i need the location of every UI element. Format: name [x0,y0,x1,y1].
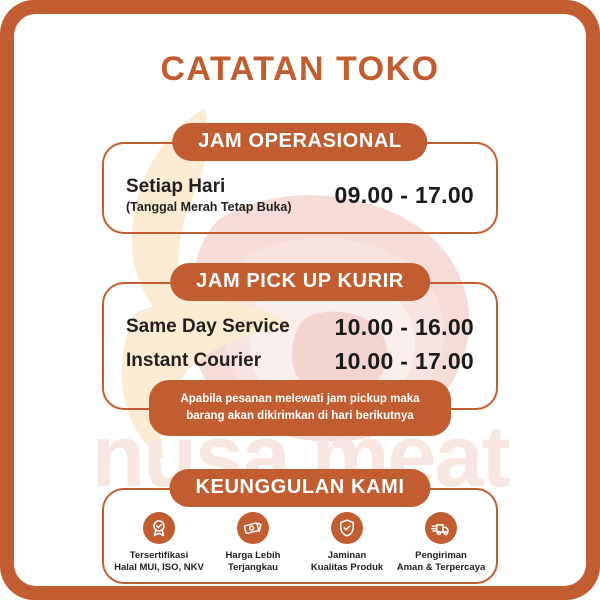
page-title: CATATAN TOKO [14,50,586,89]
card-jam-pick-up-kurir: Same Day Service 10.00 - 16.00 Instant C… [102,282,498,410]
poster-inner: nusa meat CATATAN TOKO JAM OPERASIONAL S… [14,14,586,586]
list-item: Tersertifikasi Halal MUI, ISO, NKV [112,512,206,575]
certificate-badge-icon [143,512,175,544]
feature-label: Pengiriman Aman & Terpercaya [394,550,488,575]
feature-label: Jaminan Kualitas Produk [300,550,394,575]
list-item: Harga Lebih Terjangkau [206,512,300,575]
shield-check-icon [331,512,363,544]
row-label: Same Day Service [126,316,290,338]
row-label-group: Setiap Hari (Tanggal Merah Tetap Buka) [126,176,292,215]
poster-card: nusa meat CATATAN TOKO JAM OPERASIONAL S… [0,0,600,600]
section-pill-jam-operasional: JAM OPERASIONAL [172,123,427,161]
section-pill-jam-pick-up-kurir: JAM PICK UP KURIR [170,263,430,301]
row-value: 09.00 - 17.00 [335,182,474,209]
table-row: Same Day Service 10.00 - 16.00 [104,310,496,344]
list-item: Jaminan Kualitas Produk [300,512,394,575]
section-jam-operasional: JAM OPERASIONAL Setiap Hari (Tanggal Mer… [102,142,498,234]
feature-label: Tersertifikasi Halal MUI, ISO, NKV [112,550,206,575]
section-keunggulan-kami: KEUNGGULAN KAMI Tersertifikasi [102,488,498,584]
row-value: 10.00 - 16.00 [335,314,474,341]
poster-content: CATATAN TOKO JAM OPERASIONAL Setiap Hari… [14,14,586,586]
section-pill-keunggulan-kami: KEUNGGULAN KAMI [170,469,431,507]
row-label: Setiap Hari [126,176,292,198]
pickup-note-banner: Apabila pesanan melewati jam pickup maka… [149,380,451,437]
row-sublabel: (Tanggal Merah Tetap Buka) [126,200,292,214]
list-item: Pengiriman Aman & Terpercaya [394,512,488,575]
row-value: 10.00 - 17.00 [335,348,474,375]
delivery-truck-icon [425,512,457,544]
row-label: Instant Courier [126,350,261,372]
table-row: Instant Courier 10.00 - 17.00 [104,344,496,378]
feature-label: Harga Lebih Terjangkau [206,550,300,575]
money-cash-icon [237,512,269,544]
section-jam-pick-up-kurir: JAM PICK UP KURIR Same Day Service 10.00… [102,282,498,410]
